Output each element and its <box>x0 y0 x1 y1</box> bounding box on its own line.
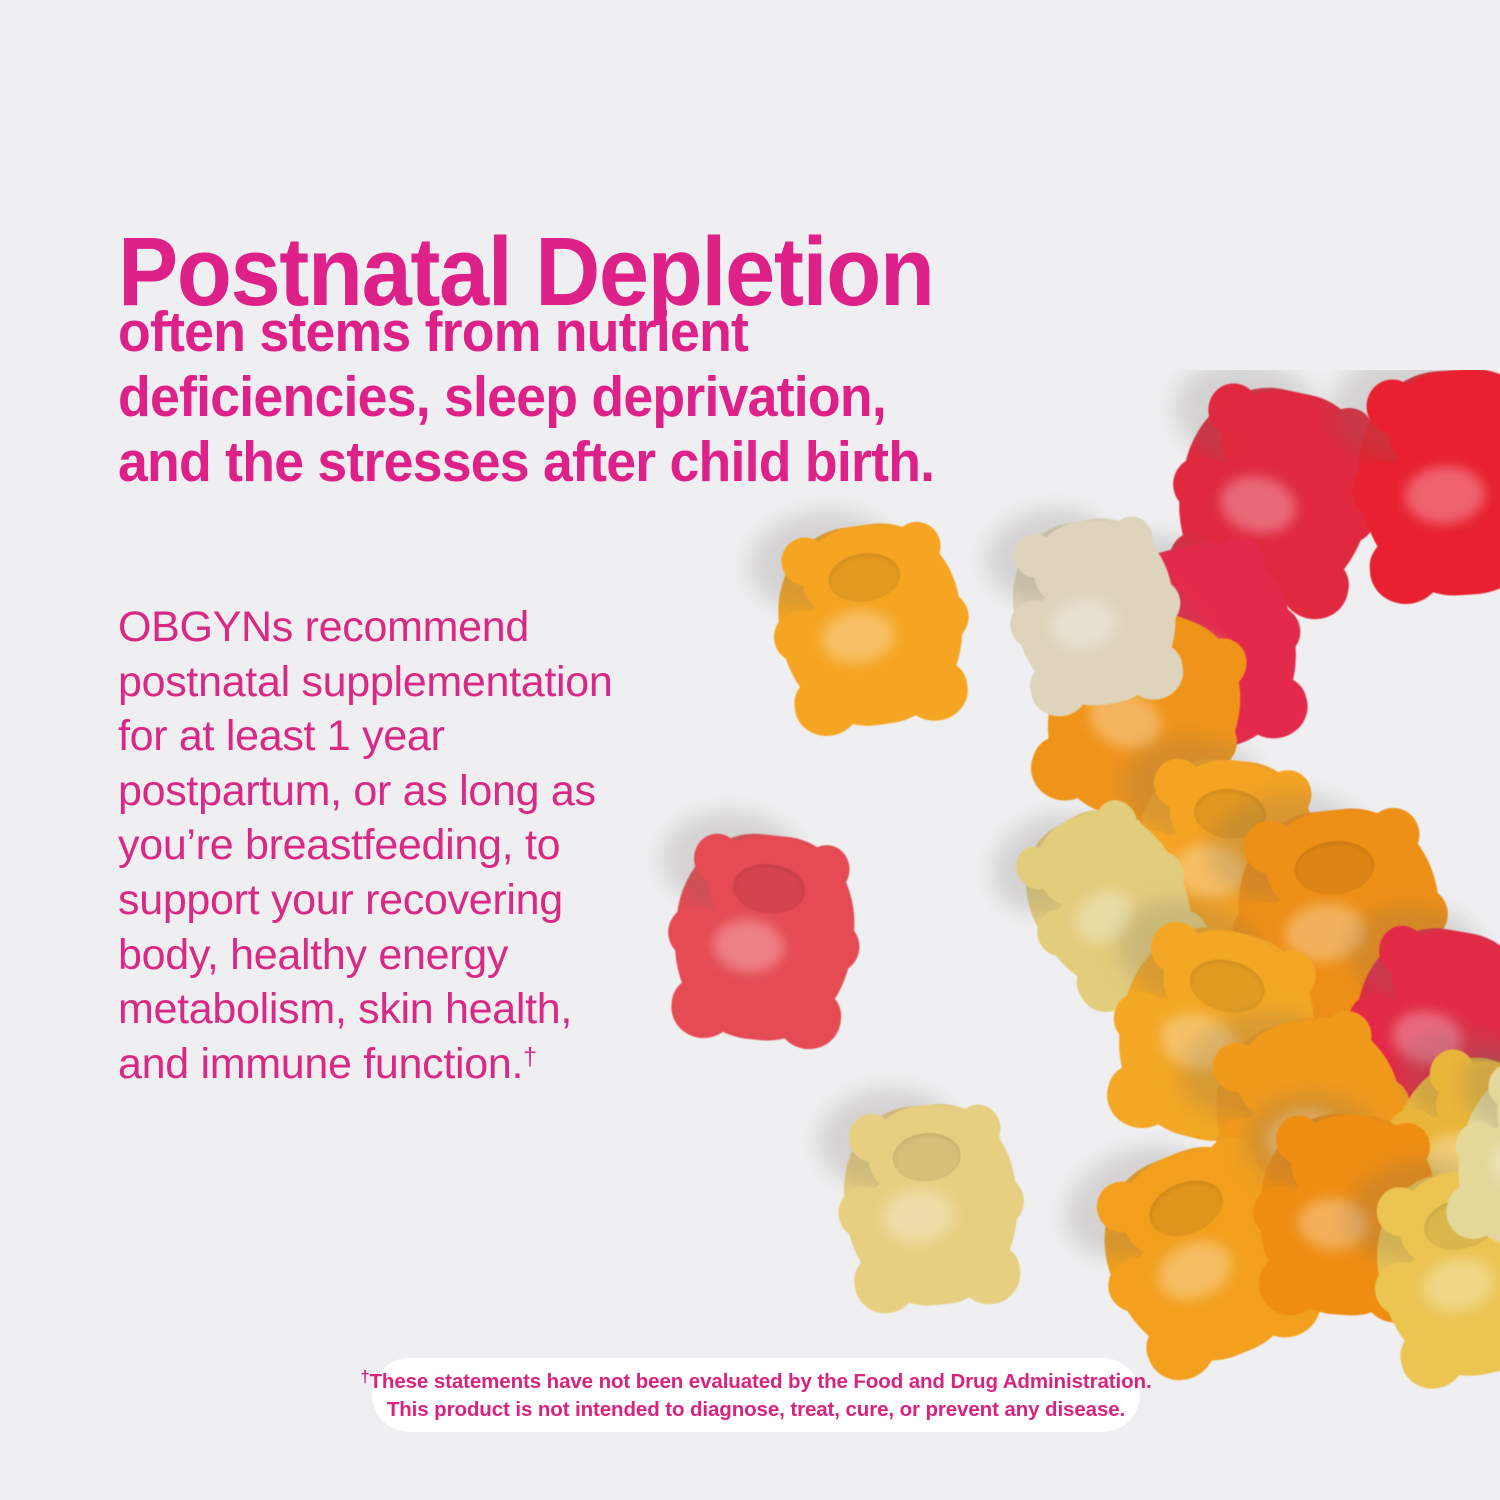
subheadline-line-3: and the stresses after child birth. <box>118 430 1086 495</box>
subheadline-line-1: often stems from nutrient <box>118 300 1086 365</box>
yellow-bear-lower-left <box>837 1098 1026 1312</box>
disclaimer-banner: †These statements have not been evaluate… <box>372 1358 1140 1432</box>
red-bear-top-far-right <box>1352 370 1500 602</box>
body-line-3: for at least 1 year <box>118 709 698 764</box>
disclaimer-line-1: †These statements have not been evaluate… <box>360 1366 1151 1396</box>
body-copy: OBGYNs recommend postnatal supplementati… <box>118 600 698 1091</box>
body-line-6: support your recovering <box>118 873 698 928</box>
promo-graphic: Postnatal Depletion often stems from nut… <box>0 0 1500 1500</box>
body-line-4: postpartum, or as long as <box>118 764 698 819</box>
footnote-marker: † <box>523 1043 537 1071</box>
body-line-8: metabolism, skin health, <box>118 982 698 1037</box>
red-bear-mid-left <box>665 826 863 1048</box>
body-line-9-text: and immune function. <box>118 1040 523 1088</box>
disclaimer-line-2: This product is not intended to diagnose… <box>387 1396 1125 1424</box>
body-line-7: body, healthy energy <box>118 928 698 983</box>
subheadline-line-2: deficiencies, sleep deprivation, <box>118 365 1086 430</box>
disclaimer-line-1-text: These statements have not been evaluated… <box>369 1370 1151 1393</box>
subheadline: often stems from nutrient deficiencies, … <box>118 300 1086 495</box>
orange-bear-upper-left <box>767 513 975 736</box>
body-line-2: postnatal supplementation <box>118 655 698 710</box>
product-photo-gummies <box>620 370 1500 1410</box>
body-line-9: and immune function.† <box>118 1037 698 1092</box>
body-line-5: you’re breastfeeding, to <box>118 818 698 873</box>
body-line-1: OBGYNs recommend <box>118 600 698 655</box>
